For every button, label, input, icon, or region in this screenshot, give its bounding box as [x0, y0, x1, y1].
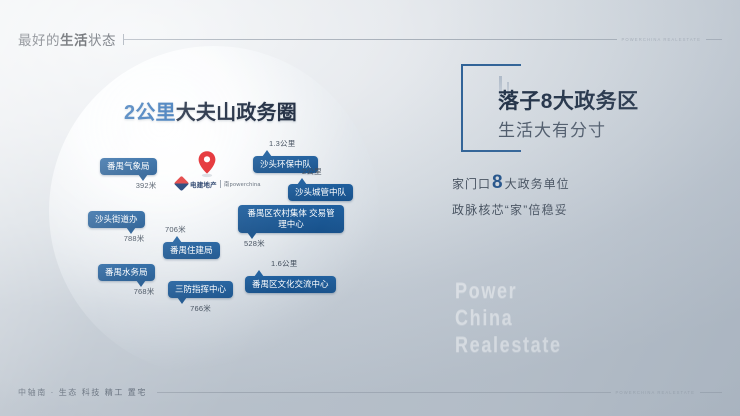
poi-distance: 766米: [168, 303, 233, 314]
poi-fanyu-housing-bureau[interactable]: 706米 番禺住建局: [163, 224, 220, 259]
map-pin-icon: [197, 150, 217, 178]
logo-mark-icon: [174, 176, 190, 192]
poi-fanyu-cultural-exchange-center[interactable]: 1.6公里 番禺区文化交流中心: [245, 258, 336, 293]
brand-logo: 电建地产 南powerchina: [176, 178, 261, 189]
slide-canvas: 最好的生活状态 POWERCHINA REALESTATE 2公里大夫山政务圈 …: [0, 0, 740, 416]
header-brand-mark: POWERCHINA REALESTATE: [622, 37, 702, 42]
poi-distance: 2公里: [302, 166, 353, 177]
watermark-line-2: China: [455, 305, 562, 332]
poi-shatou-subdistrict-office[interactable]: 沙头街道办 788米: [88, 209, 145, 244]
poi-label: 番禺水务局: [98, 264, 155, 281]
poi-label: 三防指挥中心: [168, 281, 233, 298]
poi-fanyu-water-bureau[interactable]: 番禺水务局 768米: [98, 262, 155, 297]
poi-label: 沙头城管中队: [288, 184, 353, 201]
header-title-suffix: 状态: [88, 33, 116, 48]
poi-shatou-urban-management[interactable]: 2公里 沙头城管中队: [288, 166, 353, 201]
poi-distance: 1.3公里: [269, 138, 318, 149]
poi-label: 番禺区农村集体 交易管理中心: [238, 205, 344, 233]
watermark-line-3: Realestate: [455, 332, 562, 359]
logo-subtext: 南powerchina: [224, 180, 261, 188]
footer-rule: [157, 392, 611, 393]
panel-subheading: 生活大有分寸: [498, 116, 606, 141]
poi-rural-collective-trade-center[interactable]: 番禺区农村集体 交易管理中心 528米: [238, 205, 344, 249]
header-title: 最好的生活状态: [18, 29, 116, 49]
brand-watermark: Power China Realestate: [455, 278, 562, 358]
slide-header: 最好的生活状态 POWERCHINA REALESTATE: [18, 28, 722, 50]
map-title-highlight: 2公里: [124, 102, 176, 124]
header-rule: [124, 39, 617, 40]
logo-name: 电建地产: [190, 179, 217, 189]
poi-label: 番禺住建局: [163, 242, 220, 259]
footer-rule-end: [700, 392, 722, 393]
poi-distance: 788米: [88, 233, 145, 244]
poi-distance: 1.6公里: [271, 258, 336, 269]
header-rule-end: [706, 39, 722, 40]
poi-distance: 706米: [165, 224, 220, 235]
watermark-line-1: Power: [455, 278, 562, 305]
footer-tagline: 中轴南 · 生态 科技 精工 置宅: [18, 387, 147, 398]
panel-body-post: 大政务单位: [505, 175, 570, 192]
slide-footer: 中轴南 · 生态 科技 精工 置宅 POWERCHINA REALESTATE: [18, 384, 722, 400]
poi-flood-control-command-center[interactable]: 三防指挥中心 766米: [168, 279, 233, 314]
poi-label: 番禺气象局: [100, 158, 157, 175]
panel-heading: 落子8大政务区: [498, 85, 638, 115]
poi-distance: 768米: [98, 286, 155, 297]
poi-distance: 528米: [244, 238, 344, 249]
footer-brand-mark: POWERCHINA REALESTATE: [616, 390, 696, 395]
poi-distance: 392米: [100, 180, 157, 191]
header-title-prefix: 最好的: [18, 33, 60, 48]
poi-fanyu-meteorological[interactable]: 番禺气象局 392米: [100, 156, 157, 191]
map-title: 2公里大夫山政务圈: [124, 96, 297, 125]
panel-body-number: 8: [492, 172, 504, 194]
poi-label: 番禺区文化交流中心: [245, 276, 336, 293]
poi-label: 沙头街道办: [88, 211, 145, 228]
header-title-bold: 生活: [60, 33, 88, 48]
panel-body-line-1: 家门口8大政务单位: [452, 172, 570, 194]
panel-body-pre: 家门口: [452, 175, 491, 192]
map-title-rest: 大夫山政务圈: [176, 102, 297, 124]
logo-separator: [220, 180, 221, 188]
panel-body-line-2: 政脉核芯“家”倍稳妥: [452, 201, 568, 218]
